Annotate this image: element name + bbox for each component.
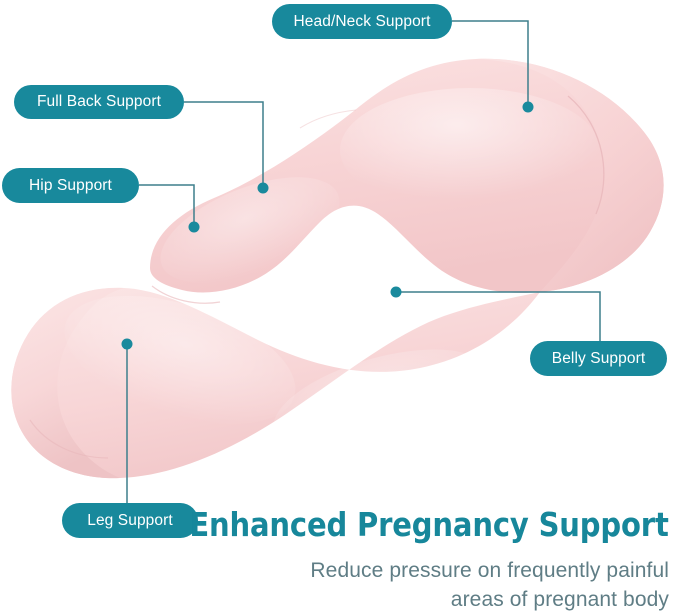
callout-label-hip[interactable]: Hip Support	[2, 168, 139, 203]
callout-label-text: Hip Support	[29, 177, 112, 195]
pillow-highlight-upper	[340, 88, 600, 212]
callout-label-text: Head/Neck Support	[294, 13, 431, 31]
subtitle: Reduce pressure on frequently painful ar…	[269, 556, 669, 614]
subtitle-line-2: areas of pregnant body	[451, 588, 669, 611]
callout-label-text: Full Back Support	[37, 93, 161, 111]
callout-label-belly[interactable]: Belly Support	[530, 341, 667, 376]
callout-label-leg[interactable]: Leg Support	[62, 503, 198, 538]
callout-label-text: Leg Support	[87, 512, 173, 530]
callout-label-head-neck[interactable]: Head/Neck Support	[272, 4, 452, 39]
infographic-canvas: Head/Neck Support Full Back Support Hip …	[0, 0, 679, 613]
callout-label-text: Belly Support	[552, 350, 646, 368]
callout-label-full-back[interactable]: Full Back Support	[14, 85, 184, 119]
headline: Enhanced Pregnancy Support	[190, 506, 669, 544]
subtitle-line-1: Reduce pressure on frequently painful	[310, 559, 669, 582]
